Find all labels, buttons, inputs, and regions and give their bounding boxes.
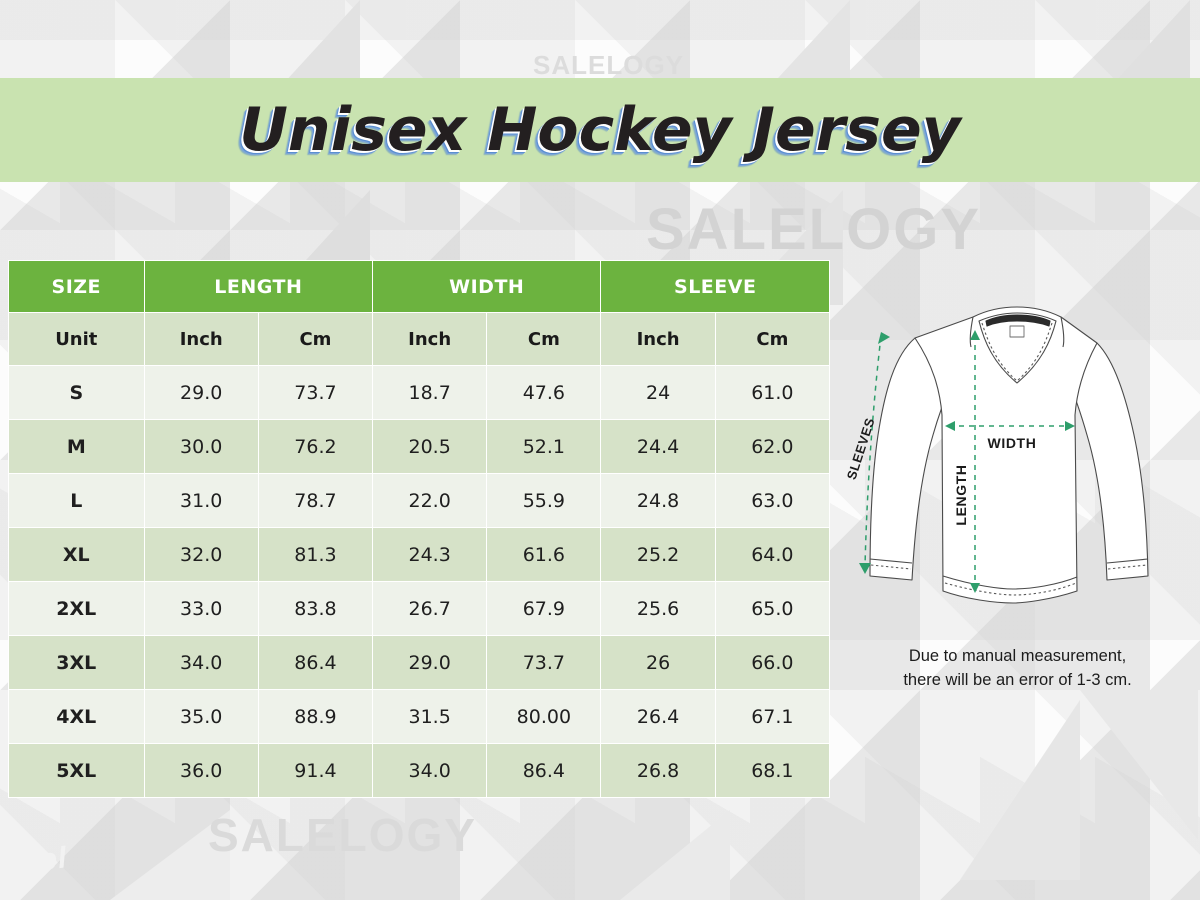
cell-width-inch: 20.5 bbox=[373, 420, 487, 474]
cell-length-cm: 81.3 bbox=[258, 528, 372, 582]
unit-sleeve-cm: Cm bbox=[715, 313, 829, 366]
cell-size: M bbox=[9, 420, 145, 474]
watermark-bottom: SALELOGY bbox=[208, 808, 477, 862]
jersey-size-tag bbox=[1010, 326, 1024, 337]
cell-width-cm: 86.4 bbox=[487, 744, 601, 798]
group-header-row: SIZE LENGTH WIDTH SLEEVE bbox=[9, 261, 830, 313]
cell-length-inch: 32.0 bbox=[144, 528, 258, 582]
cell-length-inch: 29.0 bbox=[144, 366, 258, 420]
table-row: M 30.0 76.2 20.5 52.1 24.4 62.0 bbox=[9, 420, 830, 474]
table-row: 5XL 36.0 91.4 34.0 86.4 26.8 68.1 bbox=[9, 744, 830, 798]
cell-length-cm: 73.7 bbox=[258, 366, 372, 420]
unit-sleeve-inch: Inch bbox=[601, 313, 715, 366]
background-triangle bbox=[960, 700, 1080, 880]
cell-sleeve-inch: 24.4 bbox=[601, 420, 715, 474]
label-length: LENGTH bbox=[953, 464, 969, 525]
cell-width-cm: 61.6 bbox=[487, 528, 601, 582]
cell-width-inch: 34.0 bbox=[373, 744, 487, 798]
title-banner: Unisex Hockey Jersey bbox=[0, 78, 1200, 182]
sleeve-arrow-top bbox=[878, 332, 890, 344]
cell-sleeve-inch: 26 bbox=[601, 636, 715, 690]
measurement-note: Due to manual measurement, there will be… bbox=[845, 645, 1190, 693]
background-triangle bbox=[620, 810, 730, 900]
cell-sleeve-inch: 24 bbox=[601, 366, 715, 420]
cell-sleeve-inch: 26.8 bbox=[601, 744, 715, 798]
cell-length-cm: 88.9 bbox=[258, 690, 372, 744]
cell-length-cm: 76.2 bbox=[258, 420, 372, 474]
cell-size: 2XL bbox=[9, 582, 145, 636]
cell-sleeve-inch: 24.8 bbox=[601, 474, 715, 528]
table-row: 3XL 34.0 86.4 29.0 73.7 26 66.0 bbox=[9, 636, 830, 690]
table-row: S 29.0 73.7 18.7 47.6 24 61.0 bbox=[9, 366, 830, 420]
cell-width-inch: 31.5 bbox=[373, 690, 487, 744]
cell-length-cm: 83.8 bbox=[258, 582, 372, 636]
cell-width-inch: 29.0 bbox=[373, 636, 487, 690]
table-body: Unit Inch Cm Inch Cm Inch Cm S 29.0 73.7… bbox=[9, 313, 830, 798]
header-size: SIZE bbox=[9, 261, 145, 313]
label-sleeves: SLEEVES bbox=[845, 416, 878, 482]
watermark-middle: SALELOGY bbox=[646, 196, 981, 263]
cell-sleeve-cm: 61.0 bbox=[715, 366, 829, 420]
cell-length-cm: 91.4 bbox=[258, 744, 372, 798]
cell-width-inch: 18.7 bbox=[373, 366, 487, 420]
cell-width-cm: 47.6 bbox=[487, 366, 601, 420]
cell-width-cm: 67.9 bbox=[487, 582, 601, 636]
unit-label: Unit bbox=[9, 313, 145, 366]
cell-length-cm: 78.7 bbox=[258, 474, 372, 528]
unit-length-inch: Inch bbox=[144, 313, 258, 366]
cell-width-cm: 55.9 bbox=[487, 474, 601, 528]
cell-size: L bbox=[9, 474, 145, 528]
table-row: 2XL 33.0 83.8 26.7 67.9 25.6 65.0 bbox=[9, 582, 830, 636]
unit-row: Unit Inch Cm Inch Cm Inch Cm bbox=[9, 313, 830, 366]
cell-sleeve-cm: 65.0 bbox=[715, 582, 829, 636]
cell-length-inch: 33.0 bbox=[144, 582, 258, 636]
table-row: L 31.0 78.7 22.0 55.9 24.8 63.0 bbox=[9, 474, 830, 528]
header-width: WIDTH bbox=[373, 261, 601, 313]
size-chart-page: SALELOGY SALELOGY SALELOGY pixel Unisex … bbox=[0, 0, 1200, 900]
cell-sleeve-cm: 68.1 bbox=[715, 744, 829, 798]
unit-length-cm: Cm bbox=[258, 313, 372, 366]
cell-size: 5XL bbox=[9, 744, 145, 798]
cell-sleeve-cm: 66.0 bbox=[715, 636, 829, 690]
cell-length-inch: 36.0 bbox=[144, 744, 258, 798]
size-chart-table: SIZE LENGTH WIDTH SLEEVE Unit Inch Cm In… bbox=[8, 260, 830, 798]
note-line-1: Due to manual measurement, bbox=[845, 645, 1190, 669]
background-triangle bbox=[1080, 690, 1198, 840]
table-row: XL 32.0 81.3 24.3 61.6 25.2 64.0 bbox=[9, 528, 830, 582]
watermark-top: SALELOGY bbox=[533, 50, 684, 81]
cell-size: 4XL bbox=[9, 690, 145, 744]
label-width: WIDTH bbox=[988, 435, 1037, 451]
cell-size: 3XL bbox=[9, 636, 145, 690]
cell-sleeve-inch: 25.6 bbox=[601, 582, 715, 636]
cell-sleeve-inch: 26.4 bbox=[601, 690, 715, 744]
cell-length-inch: 35.0 bbox=[144, 690, 258, 744]
cell-width-inch: 22.0 bbox=[373, 474, 487, 528]
page-title: Unisex Hockey Jersey bbox=[239, 95, 961, 165]
cell-width-inch: 26.7 bbox=[373, 582, 487, 636]
cell-width-cm: 73.7 bbox=[487, 636, 601, 690]
header-length: LENGTH bbox=[144, 261, 372, 313]
cell-width-inch: 24.3 bbox=[373, 528, 487, 582]
cell-sleeve-cm: 67.1 bbox=[715, 690, 829, 744]
sleeve-arrow-bottom bbox=[859, 563, 871, 574]
unit-width-cm: Cm bbox=[487, 313, 601, 366]
cell-length-inch: 31.0 bbox=[144, 474, 258, 528]
note-line-2: there will be an error of 1-3 cm. bbox=[845, 669, 1190, 693]
cell-sleeve-cm: 63.0 bbox=[715, 474, 829, 528]
cell-size: S bbox=[9, 366, 145, 420]
cell-width-cm: 52.1 bbox=[487, 420, 601, 474]
cell-length-inch: 30.0 bbox=[144, 420, 258, 474]
cell-length-cm: 86.4 bbox=[258, 636, 372, 690]
cell-width-cm: 80.00 bbox=[487, 690, 601, 744]
header-sleeve: SLEEVE bbox=[601, 261, 830, 313]
cell-sleeve-cm: 64.0 bbox=[715, 528, 829, 582]
cell-size: XL bbox=[9, 528, 145, 582]
unit-width-inch: Inch bbox=[373, 313, 487, 366]
cell-sleeve-cm: 62.0 bbox=[715, 420, 829, 474]
table-row: 4XL 35.0 88.9 31.5 80.00 26.4 67.1 bbox=[9, 690, 830, 744]
size-table-container: SIZE LENGTH WIDTH SLEEVE Unit Inch Cm In… bbox=[8, 260, 830, 798]
cell-sleeve-inch: 25.2 bbox=[601, 528, 715, 582]
table-head: SIZE LENGTH WIDTH SLEEVE bbox=[9, 261, 830, 313]
cell-length-inch: 34.0 bbox=[144, 636, 258, 690]
jersey-diagram: SLEEVES WIDTH LENGTH bbox=[845, 295, 1190, 635]
